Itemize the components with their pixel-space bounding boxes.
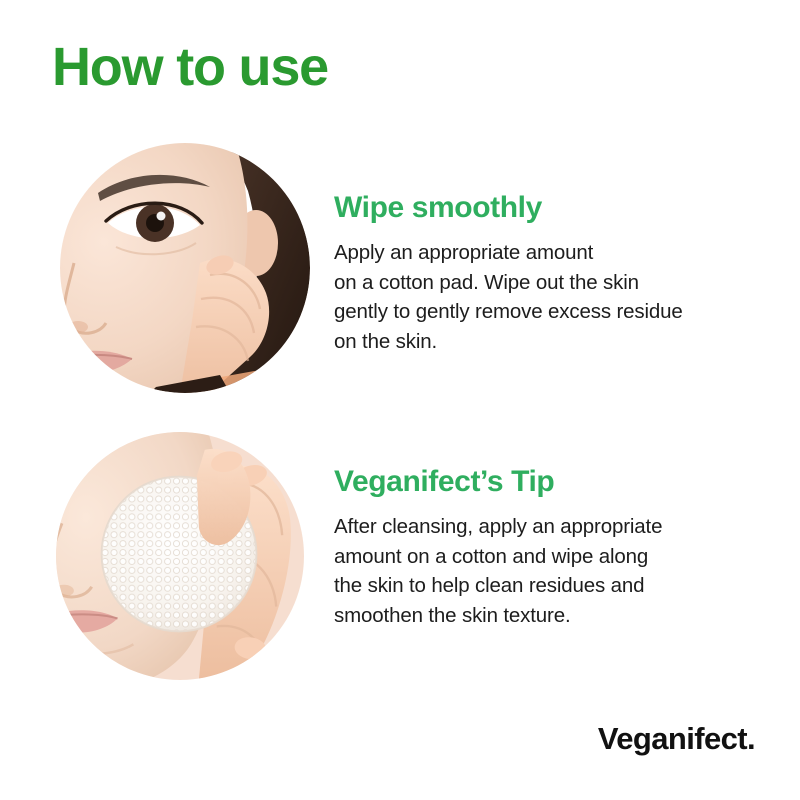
face-touching-cheek-illustration — [60, 143, 310, 393]
step-2-photo — [56, 432, 304, 680]
how-to-use-infographic: How to use — [0, 0, 800, 800]
page-title: How to use — [52, 38, 328, 96]
step-1-photo — [60, 143, 310, 393]
step-2-heading: Veganifect’s Tip — [334, 465, 754, 498]
step-2-text-block: Veganifect’s Tip After cleansing, apply … — [334, 465, 754, 630]
brand-logo: Veganifect. — [598, 723, 755, 754]
step-1-text-block: Wipe smoothly Apply an appropriate amoun… — [334, 191, 754, 356]
step-2-body: After cleansing, apply an appropriate am… — [334, 512, 754, 630]
step-1-heading: Wipe smoothly — [334, 191, 754, 224]
step-1-body: Apply an appropriate amount on a cotton … — [334, 238, 754, 356]
cotton-pad-on-cheek-illustration — [56, 432, 304, 680]
